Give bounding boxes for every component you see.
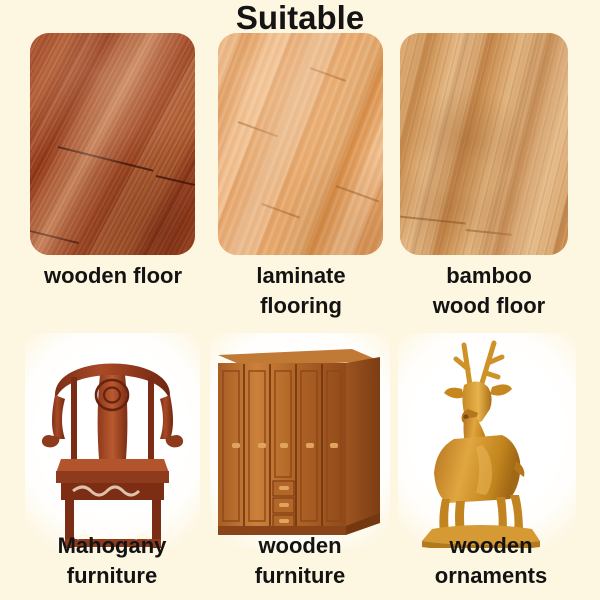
caption-bamboo-wood-floor: bamboo wood floor (398, 261, 580, 321)
plank-seam (30, 229, 79, 244)
image-wooden-furniture (210, 333, 390, 548)
wood-texture-bamboo (400, 33, 568, 255)
wood-texture-laminate (218, 33, 383, 255)
caption-wooden-ornaments: wooden ornaments (396, 531, 586, 591)
plank-seam (466, 229, 512, 236)
image-mahogany-furniture (25, 333, 200, 548)
image-laminate-flooring (218, 33, 383, 255)
product-stage (25, 333, 200, 548)
caption-laminate-flooring: laminate flooring (212, 261, 390, 321)
image-wooden-floor (30, 33, 195, 255)
caption-wooden-floor: wooden floor (20, 261, 206, 291)
plank-seam (336, 185, 380, 203)
mahogany-armchair-illustration (25, 333, 200, 548)
suitable-uses-poster: Suitable wooden floor laminate flooring … (0, 0, 600, 600)
plank-seam (262, 203, 300, 219)
image-wooden-ornaments (398, 333, 576, 548)
product-stage (210, 333, 390, 548)
plank-seam (58, 146, 154, 172)
plank-seam (310, 67, 346, 82)
wooden-wardrobe-illustration (210, 333, 390, 548)
caption-mahogany-furniture: Mahogany furniture (16, 531, 208, 591)
wooden-deer-ornament-illustration (398, 333, 576, 548)
plank-seam (156, 175, 195, 190)
image-bamboo-wood-floor (400, 33, 568, 255)
caption-wooden-furniture: wooden furniture (206, 531, 394, 591)
plank-seam (238, 121, 278, 137)
wood-texture-dark (30, 33, 195, 255)
product-stage (398, 333, 576, 548)
plank-seam (400, 215, 466, 225)
